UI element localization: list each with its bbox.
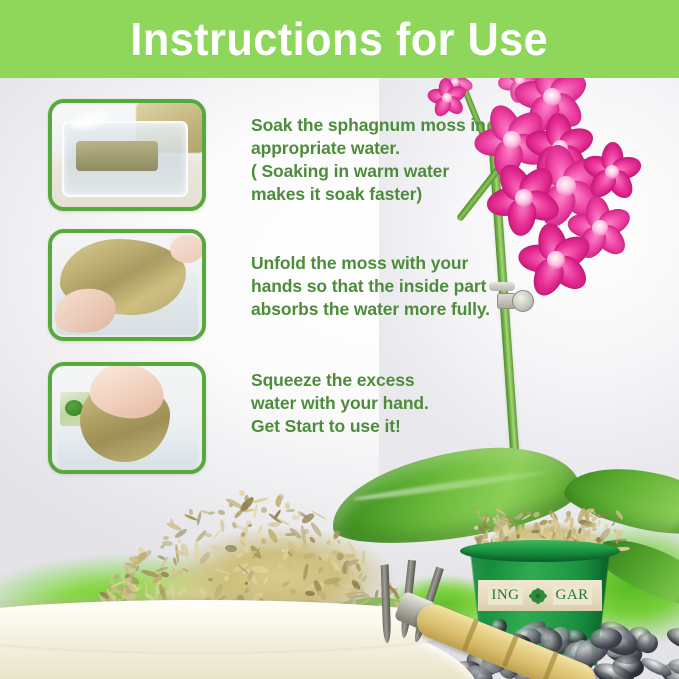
moss-strand — [333, 529, 341, 540]
flower-emblem-icon — [526, 586, 548, 606]
pot-moss-strand — [485, 533, 488, 537]
moss-strand — [285, 502, 290, 509]
thumbnail-gloss — [52, 233, 202, 337]
moss-strand — [248, 523, 252, 526]
moss-strand — [261, 507, 267, 513]
product-instruction-graphic: ING — [0, 0, 679, 679]
pot-moss-strand — [592, 528, 598, 533]
moss-strand — [337, 539, 341, 543]
pot-moss-strand — [611, 522, 616, 527]
step-2-text: Unfold the moss with your hands so that … — [251, 252, 509, 321]
moss-strand — [326, 540, 330, 545]
header-banner: Instructions for Use — [0, 0, 679, 78]
pot-rim — [460, 540, 620, 562]
moss-strand — [157, 554, 167, 560]
pot-label-band: ING — [478, 580, 602, 611]
moss-strand — [309, 536, 316, 544]
pot-moss-strand — [531, 529, 540, 533]
thumbnail-gloss — [52, 366, 202, 470]
moss-strand — [208, 578, 213, 582]
step-1-text: Soak the sphagnum moss in appropriate wa… — [251, 114, 501, 206]
moss-strand — [220, 519, 225, 532]
moss-strand — [286, 563, 293, 571]
pot-moss-strand — [496, 514, 498, 518]
moss-strand — [223, 574, 230, 581]
moss-strand — [163, 536, 169, 540]
step-3-thumbnail[interactable] — [48, 362, 206, 474]
pot-moss-strand — [599, 526, 612, 541]
moss-strand — [302, 564, 309, 581]
pot-moss-strand — [573, 527, 577, 533]
moss-strand — [271, 582, 282, 594]
moss-strand — [277, 564, 282, 568]
pot-moss-strand — [476, 509, 480, 513]
step-2-thumbnail[interactable] — [48, 229, 206, 341]
instruction-steps: Soak the sphagnum moss in appropriate wa… — [0, 78, 679, 498]
moss-strand — [195, 541, 200, 559]
moss-strand — [281, 580, 291, 588]
moss-strand — [198, 551, 211, 566]
moss-strand — [374, 591, 378, 598]
moss-strand — [252, 504, 258, 519]
pot-moss-strand — [598, 520, 601, 527]
moss-strand — [266, 559, 269, 565]
pot-label-left-text: ING — [488, 586, 522, 605]
moss-strand — [259, 537, 267, 545]
moss-strand — [244, 581, 248, 585]
moss-strand — [286, 509, 296, 512]
moss-strand — [235, 552, 244, 558]
page-title: Instructions for Use — [131, 16, 549, 62]
step-1-thumbnail[interactable] — [48, 99, 206, 211]
moss-strand — [214, 567, 231, 575]
moss-strand — [189, 509, 194, 515]
moss-strand — [361, 550, 365, 565]
moss-strand — [289, 588, 297, 596]
moss-strand — [264, 576, 269, 585]
moss-strand — [203, 566, 211, 573]
moss-strand — [256, 524, 264, 535]
step-3-text: Squeeze the excess water with your hand.… — [251, 369, 491, 438]
pot-label-right-text: GAR — [552, 586, 591, 605]
thumbnail-gloss — [52, 103, 202, 207]
pot-moss-strand — [532, 510, 541, 518]
moss-strand — [347, 541, 357, 554]
moss-strand — [330, 560, 341, 573]
moss-strand — [209, 511, 216, 516]
moss-strand — [305, 590, 316, 596]
moss-strand — [302, 552, 315, 561]
pebble — [664, 624, 679, 656]
moss-strand — [204, 532, 213, 538]
moss-strand — [217, 509, 225, 515]
moss-strand — [310, 521, 324, 537]
